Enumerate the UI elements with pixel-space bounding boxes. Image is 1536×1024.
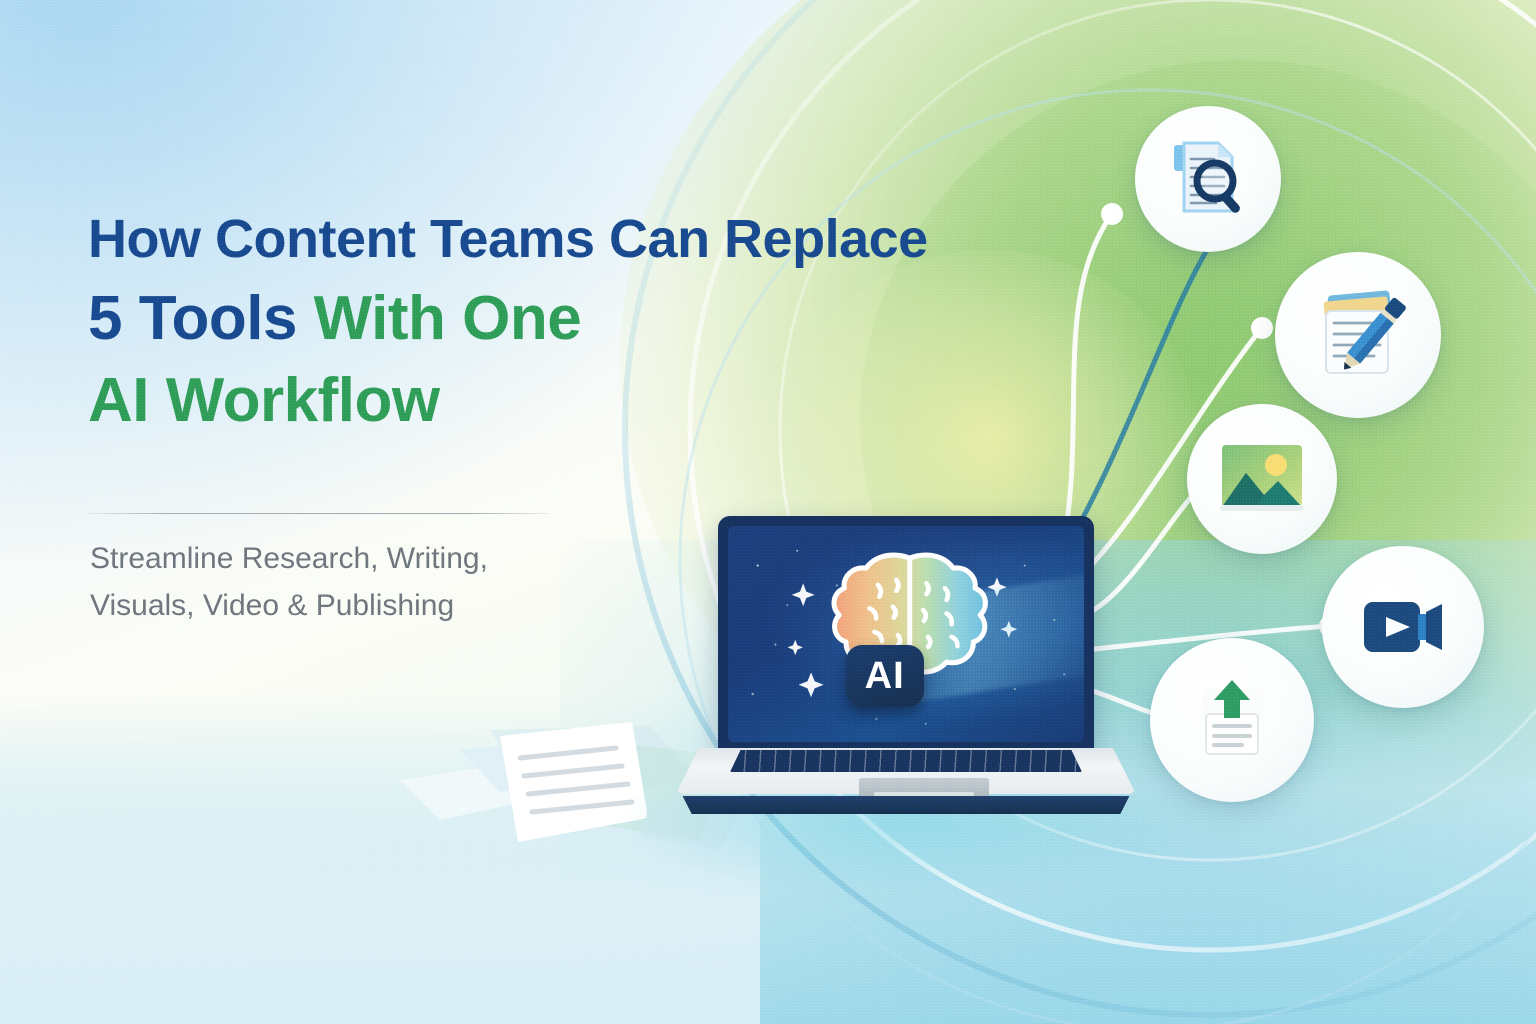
icon-circle-visual[interactable] bbox=[1187, 404, 1337, 554]
headline-line-3: AI Workflow bbox=[88, 370, 928, 432]
laptop-base-notch bbox=[874, 792, 974, 796]
headline-line-2-blue: 5 Tools bbox=[88, 284, 314, 353]
keyboard-keys bbox=[730, 750, 1082, 772]
headline-block: How Content Teams Can Replace 5 Tools Wi… bbox=[88, 212, 928, 432]
icon-circle-publish[interactable] bbox=[1150, 638, 1314, 802]
headline-line-2: 5 Tools With One bbox=[88, 288, 928, 350]
poster-canvas: How Content Teams Can Replace 5 Tools Wi… bbox=[0, 0, 1536, 1024]
laptop-lid: AI bbox=[718, 516, 1094, 754]
document-upload-icon bbox=[1180, 668, 1284, 772]
video-camera-icon bbox=[1350, 574, 1456, 680]
laptop-keyboard bbox=[730, 750, 1082, 772]
ai-badge: AI bbox=[846, 645, 924, 707]
headline-line-1: How Content Teams Can Replace bbox=[88, 212, 928, 266]
document-search-icon bbox=[1160, 131, 1256, 227]
subtitle-line-1: Streamline Research, Writing, bbox=[90, 536, 610, 583]
subtitle-line-2: Visuals, Video & Publishing bbox=[90, 583, 610, 630]
subtitle-block: Streamline Research, Writing, Visuals, V… bbox=[90, 536, 610, 629]
laptop-screen: AI bbox=[728, 526, 1084, 742]
image-picture-icon bbox=[1212, 429, 1312, 529]
icon-circle-writing[interactable] bbox=[1275, 252, 1441, 418]
notepad-pencil-icon bbox=[1304, 281, 1412, 389]
headline-divider bbox=[88, 513, 550, 514]
laptop-base-front bbox=[678, 796, 1134, 814]
icon-circle-research[interactable] bbox=[1135, 106, 1281, 252]
icon-circle-video[interactable] bbox=[1322, 546, 1484, 708]
ai-badge-label: AI bbox=[865, 657, 905, 695]
laptop-device: AI bbox=[676, 516, 1136, 826]
headline-line-2-green: With One bbox=[314, 284, 582, 353]
